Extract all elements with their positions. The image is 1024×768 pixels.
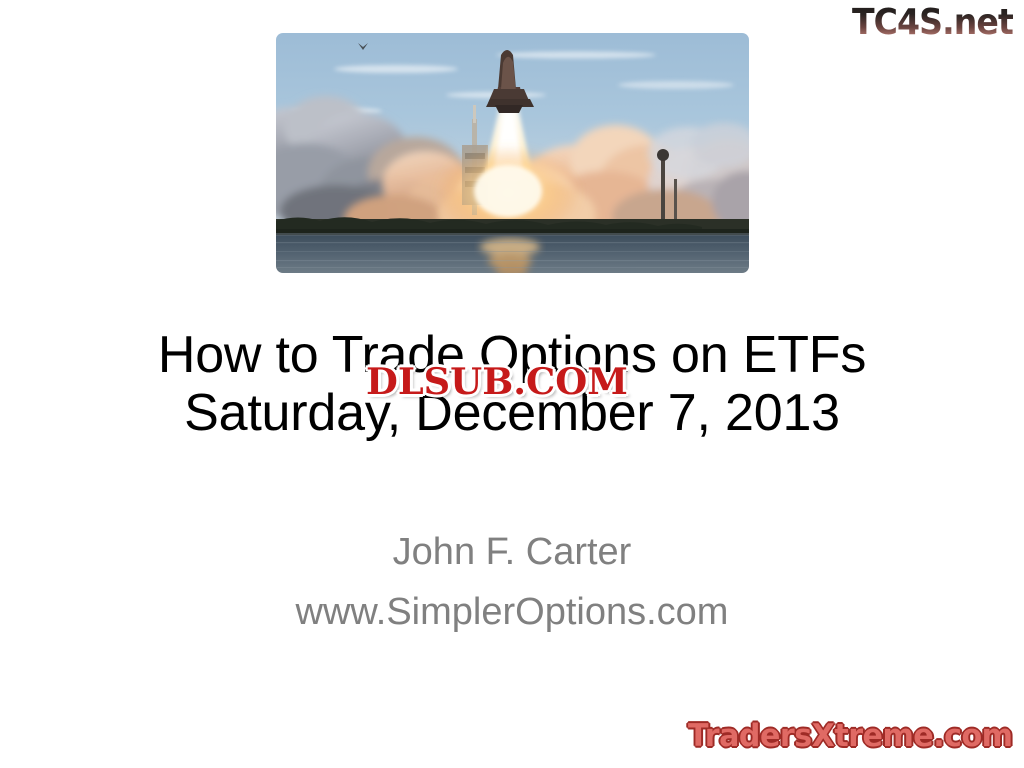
presenter-website: www.SimplerOptions.com [62,582,962,642]
watermark-dlsub: DLSUB.COM [366,361,628,403]
hero-image-shuttle-launch [276,33,749,273]
presenter-name: John F. Carter [62,522,962,582]
slide-subtitle: John F. Carter www.SimplerOptions.com [62,522,962,642]
watermark-tc4s: TC4S.net [852,2,1013,43]
watermark-tradersxtreme: TradersXtreme.com [689,718,1013,754]
presentation-slide: How to Trade Options on ETFs Saturday, D… [0,0,1024,768]
rocket-launch-photo-icon [276,33,749,273]
